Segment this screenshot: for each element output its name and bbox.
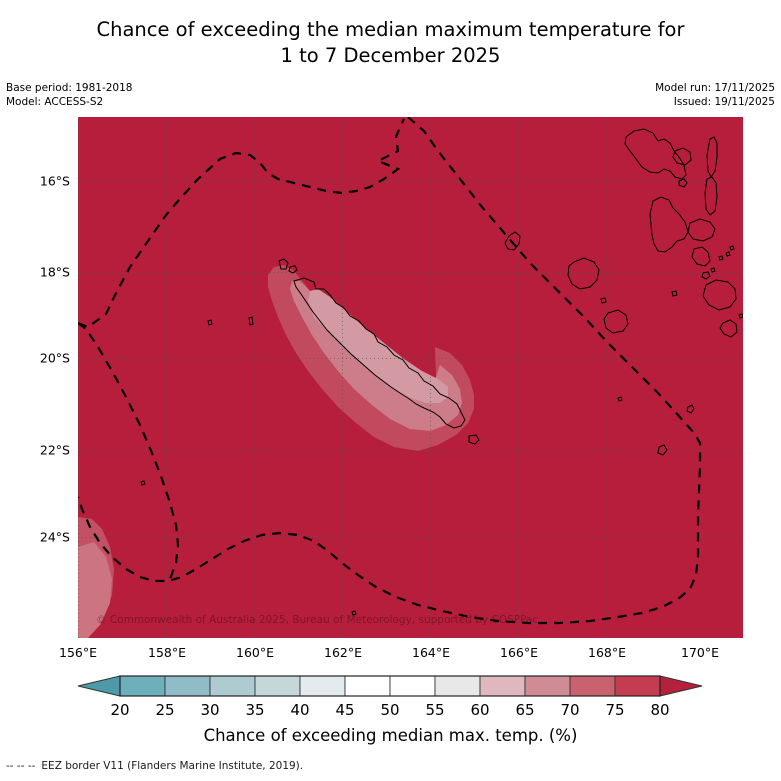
colorbar-tick-45: 45 — [335, 701, 354, 719]
coastline-espiritu-santo — [625, 129, 686, 179]
xtick-label-156E: 156°E — [59, 645, 97, 660]
xtick-label-158E: 158°E — [148, 645, 186, 660]
map-svg — [78, 117, 743, 638]
coastline-hunter-island — [658, 445, 667, 455]
colorbar-band-35-40 — [255, 676, 300, 696]
xtick-label-162E: 162°E — [324, 645, 362, 660]
colorbar-tick-50: 50 — [380, 701, 399, 719]
coastline-bellona-reef — [208, 320, 212, 325]
coastline-shepherd-islands — [711, 268, 715, 272]
coastline-walpole — [672, 291, 677, 296]
colorbar-tick-25: 25 — [155, 701, 174, 719]
coastline-chesterfield-reef — [249, 317, 253, 325]
header-right-block: Model run: 17/11/2025 Issued: 19/11/2025 — [655, 81, 775, 109]
colorbar-tick-55: 55 — [425, 701, 444, 719]
map-credit-text: © Commonwealth of Australia 2025, Bureau… — [96, 614, 538, 626]
colorbar-tick-75: 75 — [605, 701, 624, 719]
xtick-label-166E: 166°E — [500, 645, 538, 660]
colorbar-tick-35: 35 — [245, 701, 264, 719]
footer-legend: -- -- -- EEZ border V11 (Flanders Marine… — [6, 760, 303, 772]
colorbar-band-60-65 — [480, 676, 525, 696]
ytick-label-18S: 18°S — [40, 265, 70, 280]
probability-shading — [78, 265, 474, 638]
coastline-aniwa — [739, 314, 743, 318]
colorbar-tick-80: 80 — [650, 701, 669, 719]
ytick-label-24S: 24°S — [40, 530, 70, 545]
colorbar-tick-70: 70 — [560, 701, 579, 719]
coastline-malo — [679, 179, 687, 187]
ytick-label-22S: 22°S — [40, 443, 70, 458]
coastline-small-islet-a — [719, 256, 723, 260]
colorbar-axis-label: Chance of exceeding median max. temp. (%… — [0, 726, 781, 745]
coastline-epi — [692, 247, 710, 266]
colorbar-extend-low-arrow — [78, 676, 120, 696]
colorbar-band-65-70 — [525, 676, 570, 696]
colorbar-band-40-45 — [300, 676, 345, 696]
colorbar-band-45-50 — [345, 676, 390, 696]
colorbar-svg — [0, 670, 781, 702]
colorbar-band-55-60 — [435, 676, 480, 696]
coastline-ile-des-pins — [469, 435, 479, 444]
coastline-ambrym — [688, 219, 715, 241]
coastline-efate — [703, 280, 736, 310]
colorbar-tick-65: 65 — [515, 701, 534, 719]
header-left-block: Base period: 1981-2018 Model: ACCESS-S2 — [6, 81, 132, 109]
colorbar-band-20-25 — [120, 676, 165, 696]
colorbar-band-25-30 — [165, 676, 210, 696]
colorbar-band-75-80 — [615, 676, 660, 696]
coastline-small-reef-b — [141, 481, 145, 485]
xtick-label-170E: 170°E — [681, 645, 719, 660]
coastline-conway-reef — [618, 397, 622, 401]
map-plot-area[interactable]: © Commonwealth of Australia 2025, Bureau… — [78, 117, 743, 638]
page-title: Chance of exceeding the median maximum t… — [0, 17, 781, 69]
coastline-lifou — [568, 258, 599, 289]
coastline-small-islet-c — [730, 246, 734, 250]
coastline-maewo — [707, 137, 717, 177]
coastline-pentecost — [705, 177, 717, 215]
coastline-tiga — [601, 298, 606, 303]
coastline-tanna — [720, 320, 737, 337]
ytick-label-16S: 16°S — [40, 174, 70, 189]
coastline-small-islet-b — [726, 252, 730, 256]
colorbar-segments — [120, 676, 660, 696]
colorbar-band-30-35 — [210, 676, 255, 696]
coastline-malakula — [650, 197, 688, 252]
colorbar[interactable] — [0, 670, 781, 702]
issued-text: Issued: 19/11/2025 — [655, 95, 775, 109]
ytick-label-20S: 20°S — [40, 351, 70, 366]
colorbar-tick-40: 40 — [290, 701, 309, 719]
figure-canvas: Chance of exceeding the median maximum t… — [0, 0, 781, 781]
colorbar-band-50-55 — [390, 676, 435, 696]
base-period-text: Base period: 1981-2018 — [6, 81, 132, 95]
model-run-text: Model run: 17/11/2025 — [655, 81, 775, 95]
xtick-label-164E: 164°E — [412, 645, 450, 660]
eez-dash-marker: -- -- -- — [6, 760, 35, 772]
xtick-label-168E: 168°E — [588, 645, 626, 660]
colorbar-extend-high-arrow — [660, 676, 702, 696]
coastline-mare — [604, 310, 628, 333]
coastline-matthew-island — [687, 405, 694, 413]
colorbar-tick-30: 30 — [200, 701, 219, 719]
xtick-label-160E: 160°E — [236, 645, 274, 660]
footer-legend-text: EEZ border V11 (Flanders Marine Institut… — [41, 760, 303, 772]
colorbar-tick-60: 60 — [470, 701, 489, 719]
model-text: Model: ACCESS-S2 — [6, 95, 132, 109]
coastline-erromango — [702, 272, 710, 279]
colorbar-tick-20: 20 — [110, 701, 129, 719]
colorbar-band-70-75 — [570, 676, 615, 696]
